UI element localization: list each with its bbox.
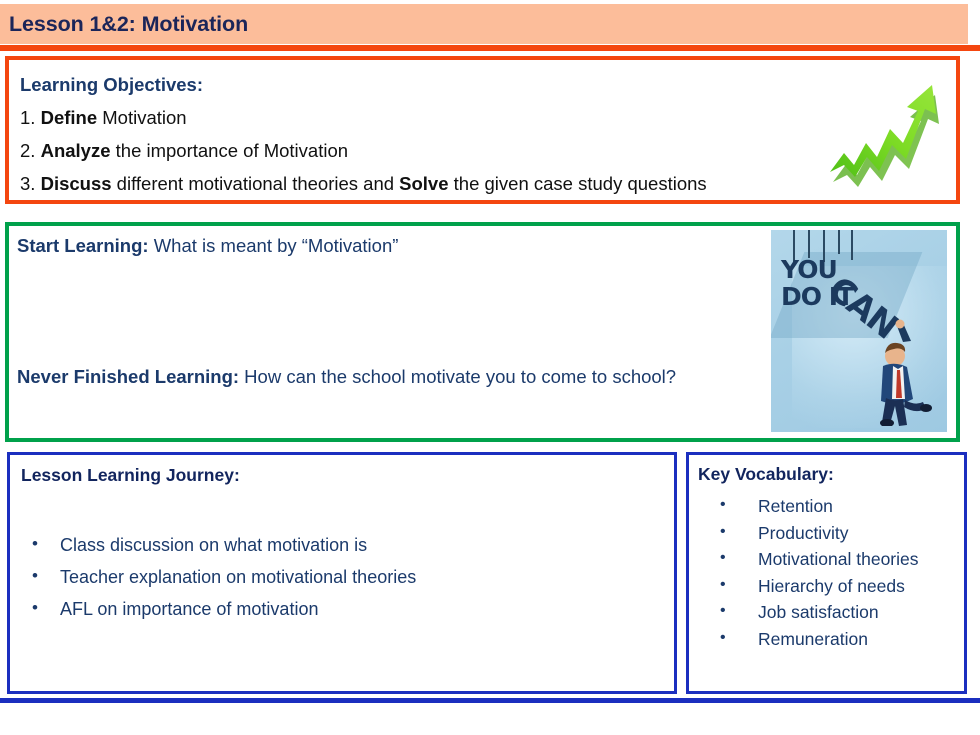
start-learning-box: Start Learning: What is meant by “Motiva… <box>5 222 960 442</box>
lesson-learning-journey-list: Class discussion on what motivation is T… <box>24 529 416 625</box>
start-learning-question: What is meant by “Motivation” <box>149 235 399 256</box>
objective-item-3: 3. Discuss different motivational theori… <box>20 167 950 200</box>
lesson-learning-journey-box: Lesson Learning Journey: Class discussio… <box>7 452 677 694</box>
list-item: Hierarchy of needs <box>698 573 960 600</box>
lesson-learning-journey-heading: Lesson Learning Journey: <box>21 465 240 486</box>
key-vocabulary-heading: Key Vocabulary: <box>698 464 834 485</box>
objective-3-text-2: the given case study questions <box>449 173 707 194</box>
never-finished-learning-line: Never Finished Learning: How can the sch… <box>17 361 777 393</box>
footer-divider <box>0 698 980 703</box>
objective-item-2: 2. Analyze the importance of Motivation <box>20 134 950 167</box>
never-finished-question: How can the school motivate you to come … <box>239 366 676 387</box>
never-finished-label: Never Finished Learning: <box>17 366 239 387</box>
objective-2-number: 2. <box>20 140 35 161</box>
objective-2-text: the importance of Motivation <box>111 140 349 161</box>
list-item: Class discussion on what motivation is <box>24 529 416 561</box>
list-item: Teacher explanation on motivational theo… <box>24 561 416 593</box>
list-item: AFL on importance of motivation <box>24 593 416 625</box>
key-vocabulary-box: Key Vocabulary: Retention Productivity M… <box>686 452 967 694</box>
objective-3-keyword: Discuss <box>41 173 112 194</box>
poster-string <box>808 230 810 258</box>
objective-2-keyword: Analyze <box>41 140 111 161</box>
list-item: Motivational theories <box>698 546 960 573</box>
objective-1-number: 1. <box>20 107 35 128</box>
list-item: Job satisfaction <box>698 599 960 626</box>
learning-objectives-heading: Learning Objectives: <box>20 68 950 101</box>
learning-objectives-content: Learning Objectives: 1. Define Motivatio… <box>20 68 950 200</box>
list-item: Remuneration <box>698 626 960 653</box>
objective-3-text: different motivational theories and <box>112 173 400 194</box>
learning-objectives-box: Learning Objectives: 1. Define Motivatio… <box>5 56 960 204</box>
key-vocabulary-list: Retention Productivity Motivational theo… <box>698 493 960 652</box>
objective-3-keyword-2: Solve <box>399 173 448 194</box>
list-item: Productivity <box>698 520 960 547</box>
you-can-do-it-poster: YOU DO IT CAN <box>771 230 947 432</box>
objective-1-text: Motivation <box>97 107 186 128</box>
list-item: Retention <box>698 493 960 520</box>
objective-3-number: 3. <box>20 173 35 194</box>
start-learning-label: Start Learning: <box>17 235 149 256</box>
objective-1-keyword: Define <box>41 107 98 128</box>
page-title: Lesson 1&2: Motivation <box>0 12 248 37</box>
start-learning-line: Start Learning: What is meant by “Motiva… <box>17 232 398 260</box>
poster-string <box>838 230 840 254</box>
businessman-figure-icon <box>859 296 933 426</box>
objective-item-1: 1. Define Motivation <box>20 101 950 134</box>
slide-header: Lesson 1&2: Motivation <box>0 4 968 44</box>
header-divider <box>0 45 980 51</box>
